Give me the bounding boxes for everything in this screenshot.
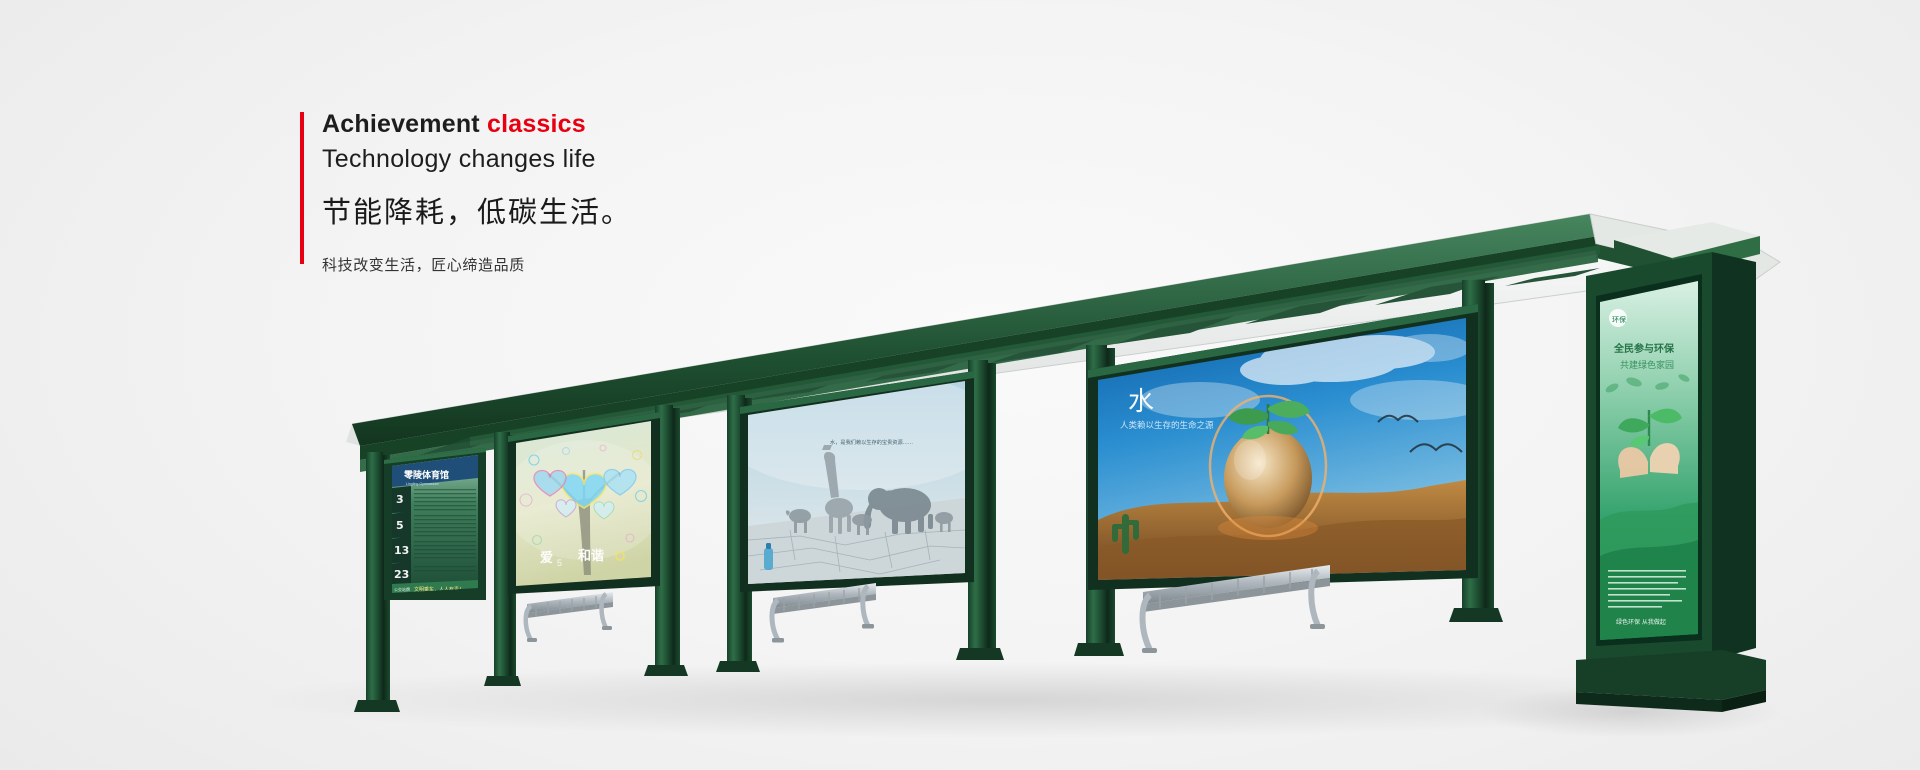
svg-text:和谐: 和谐 <box>578 548 604 564</box>
route-number-3: 13 <box>394 544 409 557</box>
timetable-title-en: Lingling Gymnasium <box>406 482 439 486</box>
lightbox-brand: 环保 <box>1612 315 1626 324</box>
bus-shelter-illustration: 零陵体育馆 Lingling Gymnasium 3 5 13 23 <box>0 0 1920 770</box>
route-number-1: 3 <box>396 493 404 506</box>
bench-1 <box>526 592 613 642</box>
lightbox-footer: 绿色环保 从我做起 <box>1616 618 1666 626</box>
lightbox-subtitle: 共建绿色家园 <box>1620 359 1674 371</box>
lightbox-title: 全民参与环保 <box>1613 342 1675 355</box>
route-number-4: 23 <box>394 568 409 581</box>
poster3-subtitle: 人类赖以生存的生命之源 <box>1120 420 1214 431</box>
timetable-side-label: 公交站牌 <box>394 586 410 592</box>
poster2-caption: 水，是我们赖以生存的宝贵资源…… <box>830 438 913 446</box>
poster1-title: 爱 <box>540 550 553 566</box>
route-number-2: 5 <box>396 519 404 532</box>
svg-text:5: 5 <box>557 558 562 568</box>
poster-love-harmony[interactable]: 爱 5 和谐 <box>504 412 664 594</box>
bench-2 <box>772 583 876 643</box>
timetable-title-cn: 零陵体育馆 <box>403 469 449 481</box>
banner-stage: Achievement classics Technology changes … <box>0 0 1920 770</box>
route-timetable-panel[interactable]: 零陵体育馆 Lingling Gymnasium 3 5 13 23 <box>384 448 486 600</box>
poster3-title: 水 <box>1128 387 1154 417</box>
vertical-lightbox[interactable]: 环保 全民参与环保 共建绿色家园 <box>1576 222 1766 712</box>
